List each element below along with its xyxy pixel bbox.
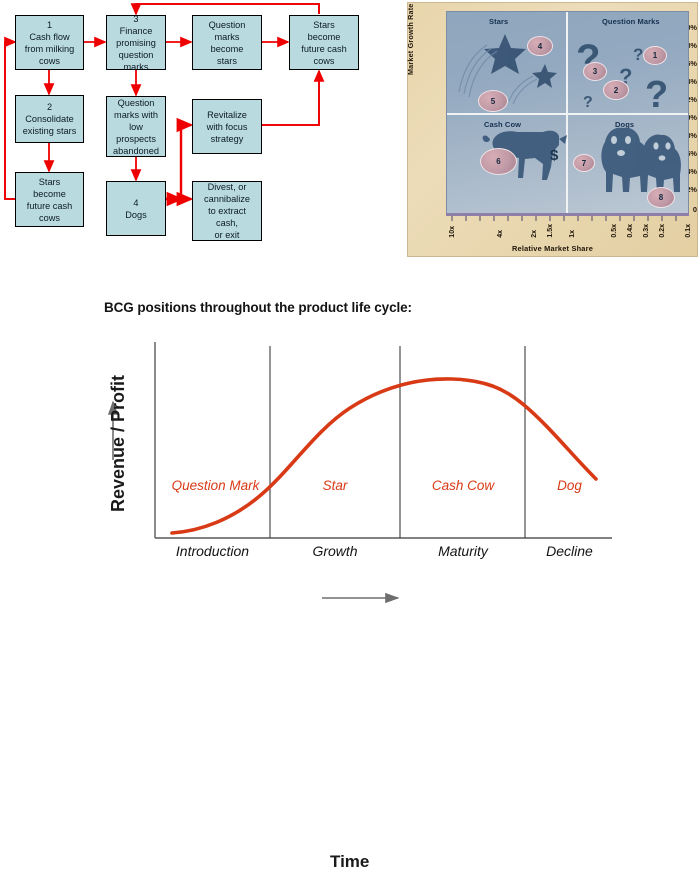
flowchart-box-revitalize-with-focus-strategy[interactable]: Revitalize with focus strategy xyxy=(192,99,262,154)
flowchart-box-cash-flow-milking-cows[interactable]: 1 Cash flow from milking cows xyxy=(15,15,84,70)
bcg-x-tick: 0.2x xyxy=(659,224,666,238)
bcg-x-axis xyxy=(446,213,689,223)
bcg-x-tick: 0.5x xyxy=(611,224,618,238)
lifecycle-position-cash-cow: Cash Cow xyxy=(402,478,524,493)
lifecycle-stage-decline: Decline xyxy=(527,543,612,559)
lifecycle-stage-growth: Growth xyxy=(272,543,398,559)
bcg-x-tick: 2x xyxy=(531,230,538,238)
star-small-icon xyxy=(532,64,557,88)
svg-text:?: ? xyxy=(633,45,643,64)
bcg-bubble-5[interactable]: 5 xyxy=(478,90,508,112)
bcg-x-axis-label: Relative Market Share xyxy=(408,244,697,253)
bcg-x-tick: 1.5x xyxy=(547,224,554,238)
bcg-strategy-flowchart: 1 Cash flow from milking cows 2 Consolid… xyxy=(0,0,390,262)
lifecycle-y-axis-label: Revenue / Profit xyxy=(108,375,129,512)
lifecycle-position-star: Star xyxy=(272,478,398,493)
bcg-y-axis-label: Market Growth Rate xyxy=(406,4,415,76)
bcg-x-tick: 1x xyxy=(569,230,576,238)
lifecycle-stage-maturity: Maturity xyxy=(402,543,524,559)
flowchart-box-consolidate-existing-stars[interactable]: 2 Consolidate existing stars xyxy=(15,95,84,143)
star-large-icon xyxy=(484,34,526,74)
dollar-sign-icon: $ xyxy=(550,147,559,164)
flowchart-box-stars-become-future-cash-cows-right[interactable]: Stars become future cash cows xyxy=(289,15,359,70)
svg-text:?: ? xyxy=(645,74,668,116)
bcg-growth-share-matrix: Market Growth Rate 20% 18% 16% 14% 12% 1… xyxy=(407,2,698,257)
bcg-x-tick: 0.3x xyxy=(643,224,650,238)
bcg-bubble-2[interactable]: 2 xyxy=(603,80,629,100)
bcg-x-tick: 0.4x xyxy=(627,224,634,238)
bcg-x-tick: 4x xyxy=(497,230,504,238)
lifecycle-position-dog: Dog xyxy=(527,478,612,493)
lifecycle-stage-introduction: Introduction xyxy=(155,543,270,559)
bcg-bubble-7[interactable]: 7 xyxy=(573,154,595,172)
flowchart-box-question-marks-become-stars[interactable]: Question marks become stars xyxy=(192,15,262,70)
flowchart-box-divest-or-cannibalize[interactable]: Divest, or cannibalize to extract cash, … xyxy=(192,181,262,241)
bcg-bubble-3[interactable]: 3 xyxy=(583,62,607,81)
lifecycle-curve xyxy=(172,379,596,533)
product-life-cycle-chart: BCG positions throughout the product lif… xyxy=(0,280,700,631)
bcg-x-tick: 10x xyxy=(449,226,456,238)
lifecycle-plot xyxy=(0,280,700,631)
bcg-bubble-4[interactable]: 4 xyxy=(527,36,553,56)
bcg-bubble-6[interactable]: 6 xyxy=(480,148,517,175)
bcg-plot-area: Stars Question Marks Cash Cow Dogs ? ? ?… xyxy=(446,11,689,215)
flowchart-box-dogs[interactable]: 4 Dogs xyxy=(106,181,166,236)
bcg-bubble-8[interactable]: 8 xyxy=(647,187,675,208)
bcg-x-tick: 0.1x xyxy=(685,224,692,238)
bcg-bubble-1[interactable]: 1 xyxy=(643,46,667,65)
flowchart-box-finance-promising-question-marks[interactable]: 3 Finance promising question marks xyxy=(106,15,166,70)
lifecycle-x-axis-label: Time xyxy=(330,852,369,872)
flowchart-box-stars-become-future-cash-cows-left[interactable]: Stars become future cash cows xyxy=(15,172,84,227)
bcg-decorations: ? ? ? ? ? $ xyxy=(447,12,690,216)
flowchart-box-question-marks-low-prospects-abandoned[interactable]: Question marks with low prospects abando… xyxy=(106,96,166,157)
svg-text:?: ? xyxy=(583,94,593,111)
lifecycle-position-question-mark: Question Mark xyxy=(163,478,268,493)
